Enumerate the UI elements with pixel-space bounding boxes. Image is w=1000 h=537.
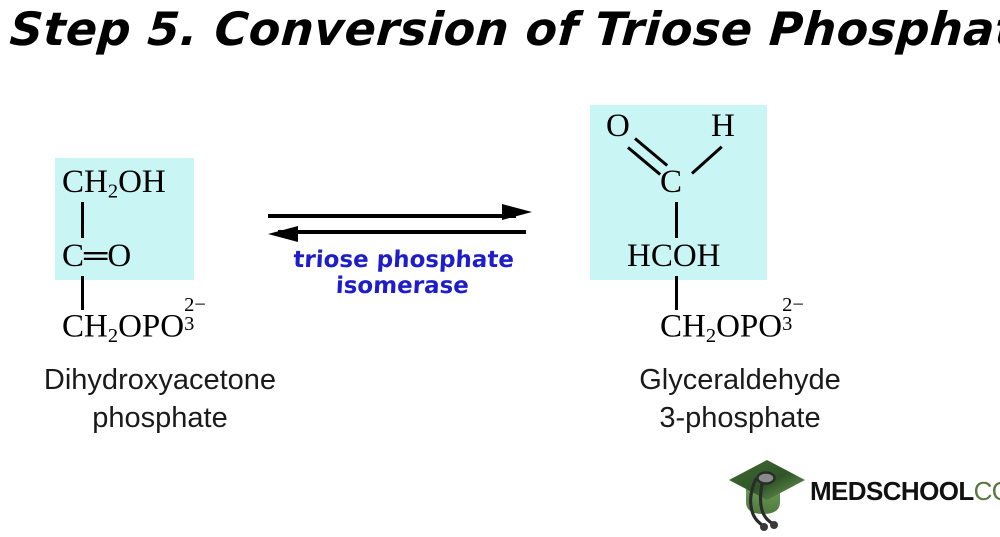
arrow-head-right-icon — [502, 204, 532, 220]
product-phosphate-group: CH2OPO2−3 — [660, 302, 804, 347]
product-phosphate-charge-sub: 3 — [782, 315, 804, 334]
graduation-cap-stethoscope-icon — [726, 456, 808, 534]
reactant-caption-line-1: Dihydroxyacetone — [0, 362, 320, 400]
reaction-diagram: CH2OH C═O CH2OPO2−3 O H C HCOH CH2OPO2−3… — [0, 0, 1000, 460]
equilibrium-arrow — [268, 208, 536, 244]
product-phosphate-rest: OPO — [716, 308, 782, 344]
product-phosphate-charge: 2−3 — [782, 296, 804, 335]
product-caption: Glyceraldehyde 3-phosphate — [560, 362, 920, 437]
reactant-caption: Dihydroxyacetone phosphate — [0, 362, 320, 437]
reactant-top-group: CH2OH — [62, 166, 166, 202]
logo-wordmark: MEDSCHOOLCOACH — [810, 476, 1000, 507]
reactant-phosphate-subscript: 2 — [108, 325, 118, 347]
reactant-phosphate-group: CH2OPO2−3 — [62, 302, 206, 347]
product-caption-line-1: Glyceraldehyde — [560, 362, 920, 400]
arrow-line-forward — [268, 214, 516, 218]
reactant-top-group-rest: OH — [118, 164, 166, 200]
reactant-phosphate-charge-sub: 3 — [184, 315, 206, 334]
reactant-caption-line-2: phosphate — [0, 400, 320, 438]
reactant-phosphate-rest: OPO — [118, 308, 184, 344]
logo-word-coach: COACH — [974, 476, 1000, 506]
product-hydroxyl-group: HCOH — [627, 240, 721, 273]
medschoolcoach-logo: MEDSCHOOLCOACH — [726, 456, 988, 534]
arrow-line-reverse — [278, 230, 526, 234]
arrow-head-left-icon — [268, 226, 298, 242]
product-caption-line-2: 3-phosphate — [560, 400, 920, 438]
enzyme-label: triose phosphate isomerase — [267, 248, 540, 300]
reactant-carbonyl-group: C═O — [62, 240, 131, 273]
enzyme-label-line-2: isomerase — [267, 274, 538, 300]
product-aldehyde-hydrogen: H — [711, 110, 735, 143]
product-bond-upper — [675, 202, 678, 238]
reactant-phosphate-text: CH — [62, 308, 108, 344]
product-phosphate-text: CH — [660, 308, 706, 344]
reactant-top-group-text: CH — [62, 164, 108, 200]
product-phosphate-subscript: 2 — [706, 325, 716, 347]
product-carbonyl-carbon: C — [660, 166, 682, 199]
enzyme-label-line-1: triose phosphate — [268, 248, 539, 274]
reactant-phosphate-charge: 2−3 — [184, 296, 206, 335]
product-carbonyl-oxygen: O — [606, 110, 630, 143]
reactant-bond-upper — [81, 202, 84, 238]
reactant-top-group-subscript: 2 — [108, 181, 118, 203]
logo-word-medschool: MEDSCHOOL — [810, 476, 974, 506]
